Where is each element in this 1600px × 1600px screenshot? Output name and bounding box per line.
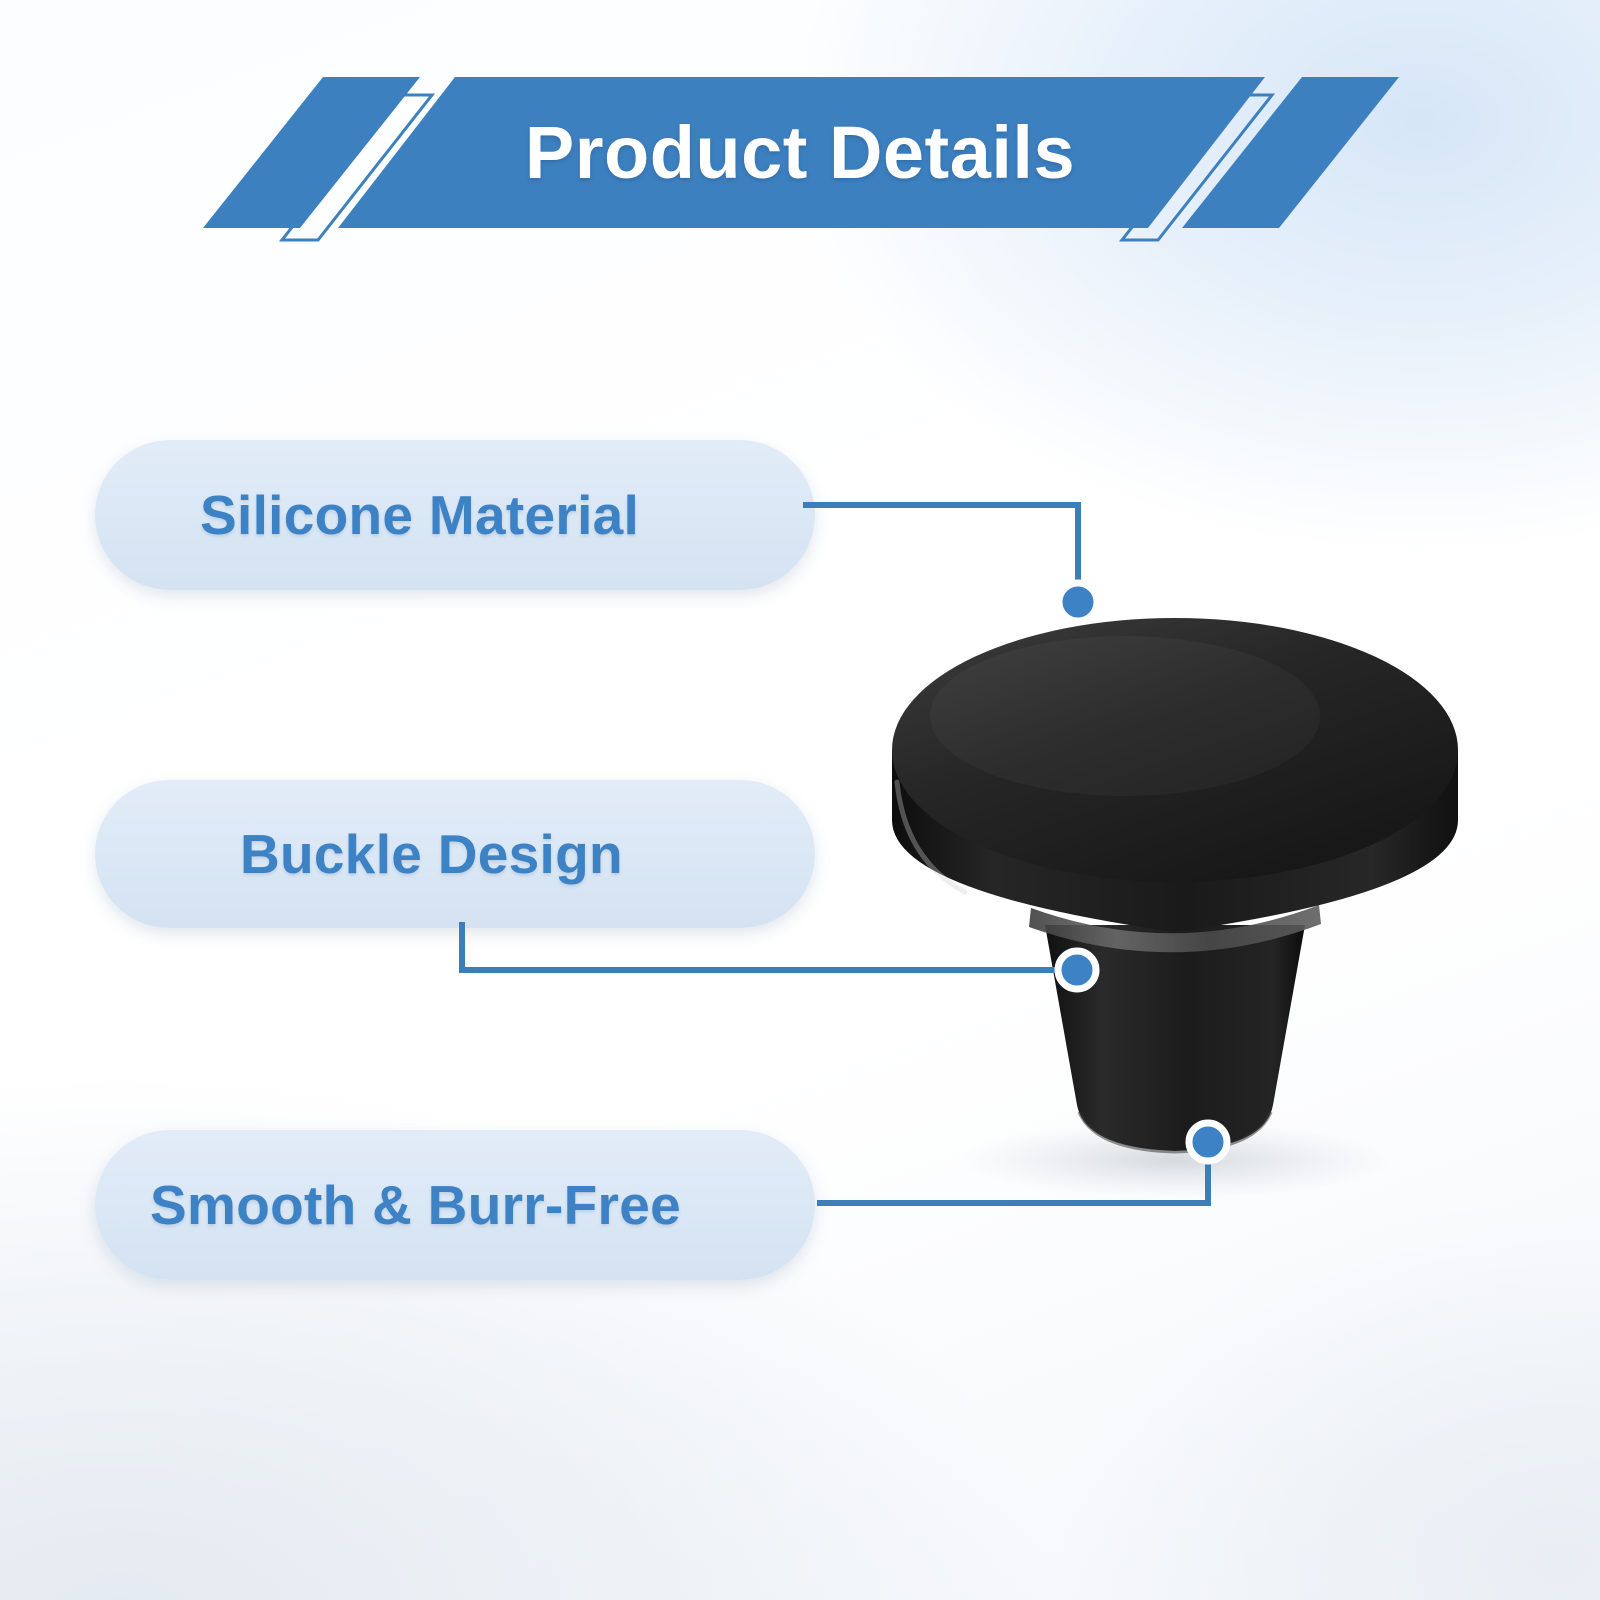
product-image [845,520,1525,1200]
product-details-infographic: Product Details [0,0,1600,1600]
banner-shape-main-block [338,77,1265,228]
callout-label-buckle-design: Buckle Design [240,822,623,886]
header-banner [0,55,1600,250]
callout-pill-smooth-burr-free[interactable]: Smooth & Burr-Free [95,1130,815,1280]
callout-label-smooth-burr-free: Smooth & Burr-Free [150,1173,681,1237]
product-stem [1045,925,1305,1151]
product-cap-top-sheen [930,636,1320,796]
callout-label-silicone-material: Silicone Material [200,483,639,547]
callout-pill-silicone-material[interactable]: Silicone Material [95,440,815,590]
callout-pill-buckle-design[interactable]: Buckle Design [95,780,815,928]
